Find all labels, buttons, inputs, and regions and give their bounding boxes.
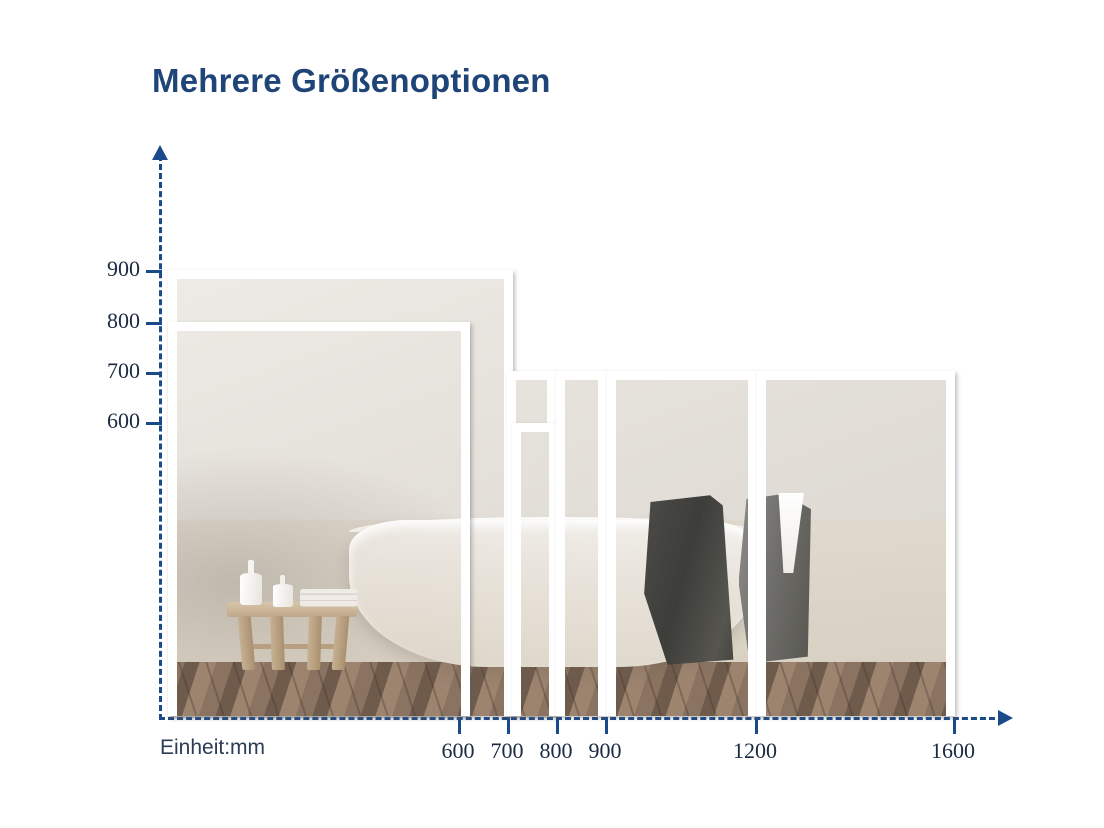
- bottle: [273, 584, 293, 607]
- x-axis-tick-label: 1600: [923, 738, 983, 764]
- y-axis-tick: [146, 270, 162, 273]
- x-axis-tick: [458, 717, 461, 734]
- bathroom-photo: [521, 432, 549, 716]
- x-axis-tick: [605, 717, 608, 734]
- y-axis-tick-label: 600: [88, 408, 140, 434]
- mirror-glass: [766, 380, 946, 716]
- unit-label: Einheit:mm: [160, 736, 265, 760]
- mirror-glass: [616, 380, 748, 716]
- y-axis-line: [159, 155, 162, 720]
- y-axis-tick-label: 700: [88, 358, 140, 384]
- y-axis-tick-label: 900: [88, 256, 140, 282]
- y-axis-tick: [146, 322, 162, 325]
- bottle: [240, 573, 261, 605]
- stool-leg: [331, 616, 349, 670]
- page-title: Mehrere Größenoptionen: [152, 62, 551, 100]
- mirror-glass: [177, 331, 461, 716]
- mirror-glass: [565, 380, 598, 716]
- bathroom-photo: [565, 380, 598, 716]
- stool-leg: [270, 616, 285, 670]
- wooden-stool: [227, 602, 357, 669]
- stool-leg: [307, 616, 322, 670]
- x-axis-tick: [507, 717, 510, 734]
- x-axis-tick-label: 1200: [725, 738, 785, 764]
- stool-crossbar: [243, 644, 342, 649]
- wood-floor: [521, 662, 549, 716]
- bathroom-photo: [616, 380, 748, 716]
- wood-floor: [177, 662, 461, 716]
- up-arrow-icon: [152, 145, 168, 160]
- y-axis-tick-label: 800: [88, 308, 140, 334]
- wall-upper: [565, 380, 598, 520]
- wall-upper: [521, 432, 549, 520]
- y-axis-tick: [146, 372, 162, 375]
- wood-floor: [616, 662, 748, 716]
- mirror-glass: [521, 432, 549, 716]
- x-axis-tick: [755, 717, 758, 734]
- stool-leg: [238, 616, 256, 670]
- panel-700c[interactable]: [607, 371, 757, 716]
- wood-floor: [565, 662, 598, 716]
- folded-towels: [300, 589, 357, 607]
- bathroom-photo: [766, 380, 946, 716]
- bathtub: [565, 520, 598, 667]
- bathroom-photo: [177, 331, 461, 716]
- infographic-stage: Mehrere Größenoptionen 900800700600 6007…: [0, 0, 1104, 828]
- wood-floor: [766, 662, 946, 716]
- panel-600[interactable]: [512, 423, 558, 716]
- bathtub: [521, 520, 549, 667]
- panel-700d[interactable]: [757, 371, 955, 716]
- x-axis-tick: [953, 717, 956, 734]
- panel-800[interactable]: [168, 322, 470, 716]
- x-axis-line: [159, 717, 1004, 720]
- x-axis-tick: [556, 717, 559, 734]
- right-arrow-icon: [998, 710, 1013, 726]
- y-axis-tick: [146, 422, 162, 425]
- panel-700b[interactable]: [556, 371, 607, 716]
- x-axis-tick-label: 900: [575, 738, 635, 764]
